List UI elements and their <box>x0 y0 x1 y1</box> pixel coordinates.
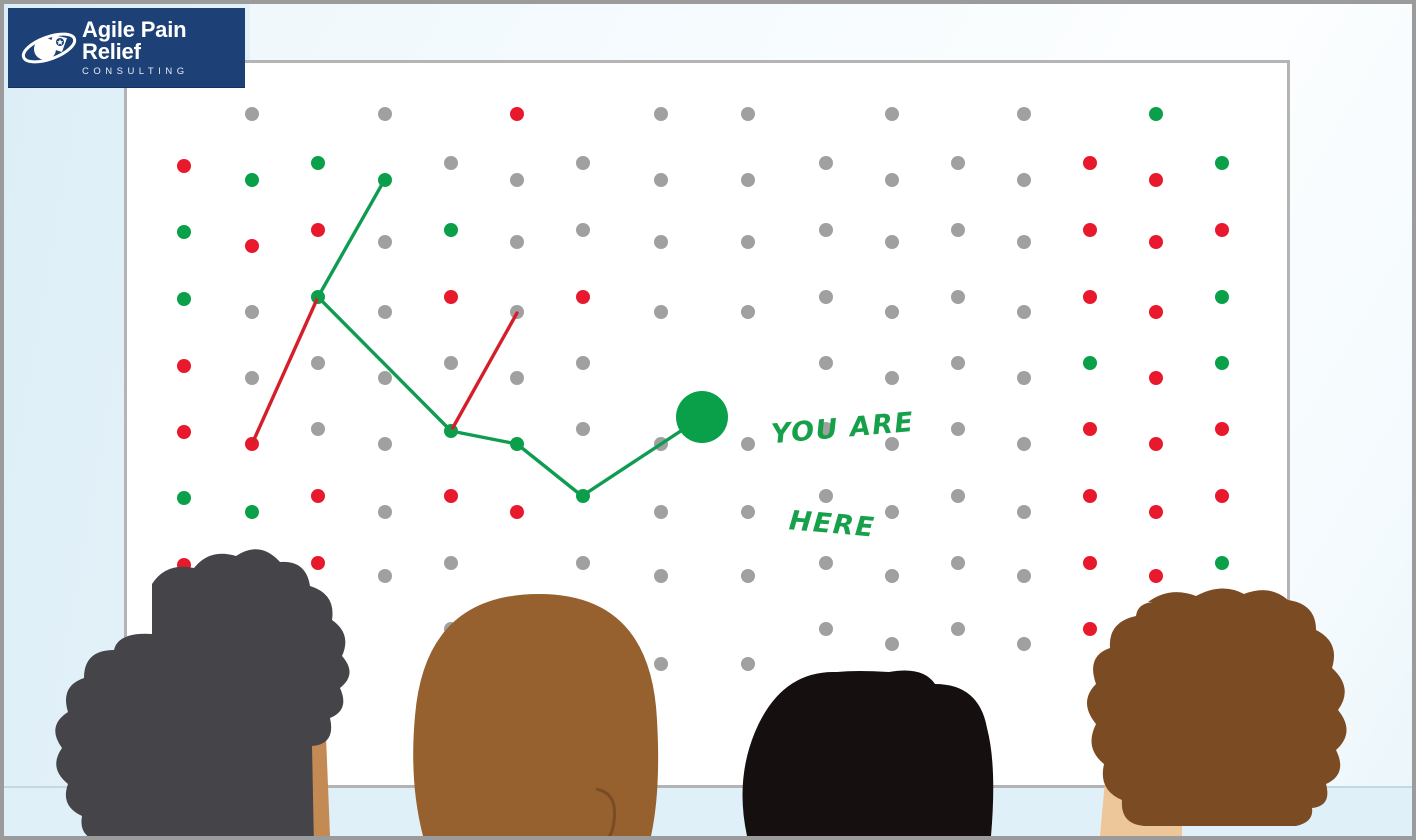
matrix-dot <box>1149 107 1163 121</box>
matrix-dot <box>1149 173 1163 187</box>
matrix-dot <box>741 569 755 583</box>
matrix-dot <box>885 371 899 385</box>
matrix-dot <box>510 371 524 385</box>
matrix-dot <box>1017 173 1031 187</box>
matrix-dot <box>177 359 191 373</box>
matrix-dot <box>378 107 392 121</box>
brand-text: Agile Pain Relief CONSULTING <box>82 19 245 77</box>
matrix-dot <box>951 223 965 237</box>
matrix-dot <box>654 305 668 319</box>
matrix-dot <box>951 422 965 436</box>
matrix-dot <box>378 305 392 319</box>
matrix-dot <box>177 292 191 306</box>
matrix-dot <box>1215 290 1229 304</box>
matrix-dot <box>654 569 668 583</box>
matrix-dot <box>245 107 259 121</box>
matrix-dot <box>741 107 755 121</box>
matrix-dot <box>885 505 899 519</box>
matrix-dot <box>741 437 755 451</box>
matrix-dot <box>951 290 965 304</box>
matrix-dot <box>1215 223 1229 237</box>
matrix-dot <box>444 556 458 570</box>
matrix-dot <box>819 290 833 304</box>
matrix-dot <box>741 173 755 187</box>
matrix-dot <box>1149 437 1163 451</box>
matrix-dot <box>378 173 392 187</box>
matrix-dot <box>1149 235 1163 249</box>
matrix-dot <box>576 156 590 170</box>
matrix-dot <box>510 437 524 451</box>
matrix-dot <box>885 235 899 249</box>
brand-name: Agile Pain Relief <box>82 19 245 63</box>
matrix-dot <box>245 239 259 253</box>
matrix-dot <box>951 156 965 170</box>
matrix-dot <box>654 505 668 519</box>
matrix-dot <box>311 489 325 503</box>
matrix-dot <box>245 305 259 319</box>
matrix-dot <box>1017 371 1031 385</box>
matrix-dot <box>378 235 392 249</box>
matrix-dot <box>1083 489 1097 503</box>
matrix-dot <box>177 491 191 505</box>
matrix-dot <box>378 569 392 583</box>
matrix-dot <box>510 505 524 519</box>
matrix-dot <box>654 235 668 249</box>
matrix-dot <box>1083 290 1097 304</box>
matrix-dot <box>311 223 325 237</box>
brand-tagline: CONSULTING <box>82 67 245 77</box>
matrix-dot <box>1149 305 1163 319</box>
matrix-dot <box>1083 356 1097 370</box>
matrix-dot <box>177 425 191 439</box>
person-3 <box>739 636 1049 836</box>
matrix-dot <box>819 356 833 370</box>
matrix-dot <box>177 159 191 173</box>
matrix-dot <box>819 489 833 503</box>
matrix-dot <box>885 569 899 583</box>
matrix-dot <box>444 356 458 370</box>
matrix-dot <box>311 356 325 370</box>
matrix-dot <box>885 107 899 121</box>
matrix-dot <box>177 225 191 239</box>
matrix-dot <box>1017 235 1031 249</box>
matrix-dot <box>576 489 590 503</box>
matrix-dot <box>1083 223 1097 237</box>
matrix-dot <box>444 156 458 170</box>
matrix-dot <box>378 505 392 519</box>
matrix-dot <box>1017 505 1031 519</box>
matrix-dot <box>311 422 325 436</box>
person-3-hair <box>743 671 994 837</box>
matrix-dot <box>510 235 524 249</box>
matrix-dot <box>1017 107 1031 121</box>
matrix-dot <box>951 556 965 570</box>
matrix-dot <box>444 489 458 503</box>
person-1 <box>24 536 354 836</box>
matrix-dot <box>1215 422 1229 436</box>
matrix-dot <box>510 305 524 319</box>
matrix-dot <box>378 437 392 451</box>
matrix-dot <box>245 505 259 519</box>
matrix-dot <box>1215 356 1229 370</box>
person-1-hair <box>55 549 349 836</box>
matrix-dot <box>576 356 590 370</box>
person-2-head <box>413 594 658 836</box>
matrix-dot <box>1149 505 1163 519</box>
matrix-dot <box>741 235 755 249</box>
matrix-dot <box>510 173 524 187</box>
matrix-dot <box>741 305 755 319</box>
matrix-dot <box>311 156 325 170</box>
matrix-dot <box>1017 569 1031 583</box>
matrix-dot <box>654 437 668 451</box>
matrix-dot <box>245 173 259 187</box>
matrix-dot <box>819 156 833 170</box>
matrix-dot <box>1083 422 1097 436</box>
matrix-dot <box>576 290 590 304</box>
person-4-hair <box>1087 588 1347 826</box>
matrix-dot <box>444 290 458 304</box>
matrix-dot <box>654 107 668 121</box>
matrix-dot <box>819 556 833 570</box>
person-2 <box>404 586 674 836</box>
scene-canvas: YOU ARE HERE <box>0 0 1416 840</box>
matrix-dot <box>951 356 965 370</box>
matrix-dot <box>951 489 965 503</box>
matrix-dot <box>1215 489 1229 503</box>
matrix-dot <box>819 622 833 636</box>
matrix-dot <box>819 223 833 237</box>
matrix-dot <box>1083 156 1097 170</box>
matrix-dot <box>245 437 259 451</box>
matrix-dot <box>510 107 524 121</box>
matrix-dot <box>378 371 392 385</box>
matrix-dot <box>311 290 325 304</box>
matrix-dot <box>245 371 259 385</box>
matrix-dot <box>444 424 458 438</box>
matrix-dot <box>1149 371 1163 385</box>
matrix-dot <box>576 556 590 570</box>
matrix-dot <box>576 422 590 436</box>
globe-swoosh-icon <box>20 24 78 72</box>
matrix-dot <box>885 305 899 319</box>
matrix-dot <box>444 223 458 237</box>
person-4 <box>1054 556 1354 836</box>
matrix-dot <box>741 505 755 519</box>
matrix-dot <box>1017 305 1031 319</box>
matrix-dot <box>654 173 668 187</box>
matrix-dot <box>1215 156 1229 170</box>
matrix-dot <box>1017 437 1031 451</box>
brand-logo[interactable]: Agile Pain Relief CONSULTING <box>8 8 245 87</box>
matrix-dot <box>951 622 965 636</box>
matrix-dot <box>576 223 590 237</box>
matrix-dot <box>885 173 899 187</box>
